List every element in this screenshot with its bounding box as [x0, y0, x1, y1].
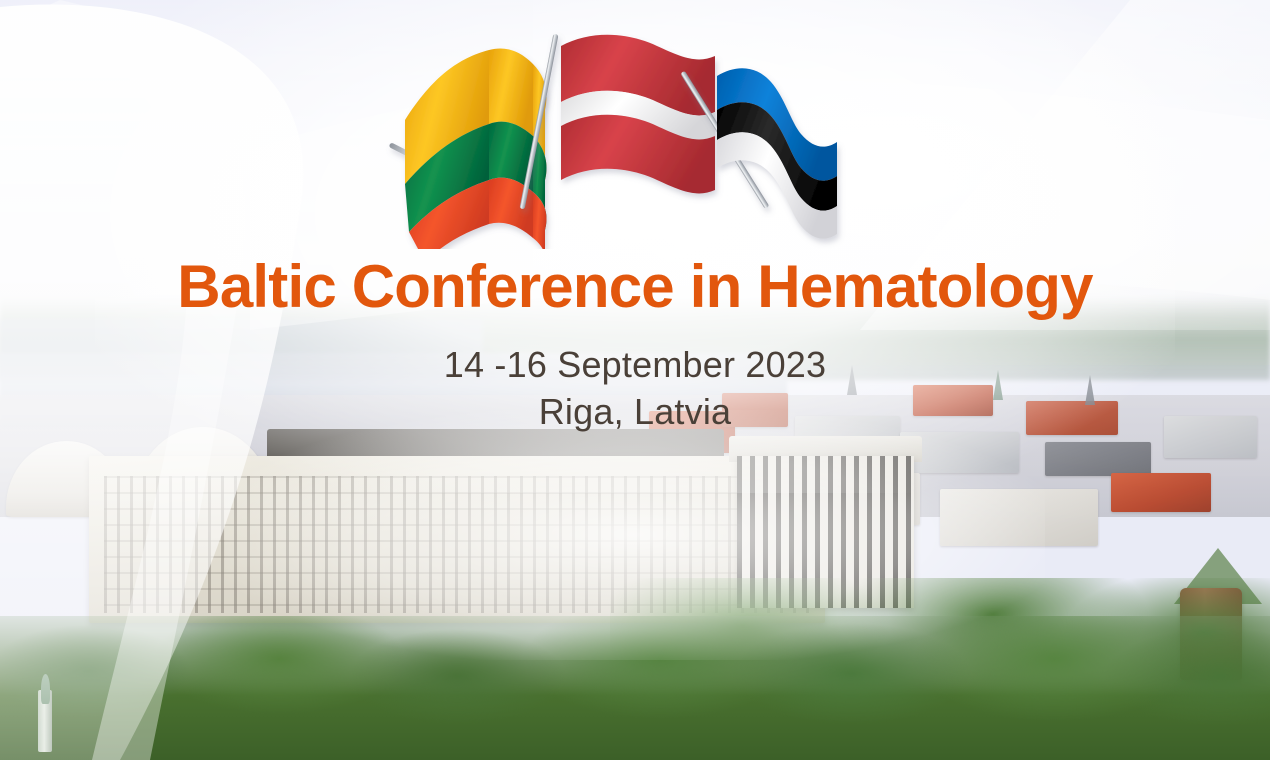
- baltic-flags-lockup: [385, 24, 885, 249]
- conference-banner: Baltic Conference in Hematology 14 -16 S…: [0, 0, 1270, 760]
- flag-lithuania: [389, 49, 547, 249]
- banner-content: Baltic Conference in Hematology 14 -16 S…: [0, 0, 1270, 760]
- page-title: Baltic Conference in Hematology: [177, 255, 1092, 319]
- event-location: Riga, Latvia: [444, 388, 826, 436]
- flag-latvia: [519, 34, 715, 210]
- event-dates: 14 -16 September 2023: [444, 341, 826, 389]
- event-details: 14 -16 September 2023 Riga, Latvia: [444, 341, 826, 436]
